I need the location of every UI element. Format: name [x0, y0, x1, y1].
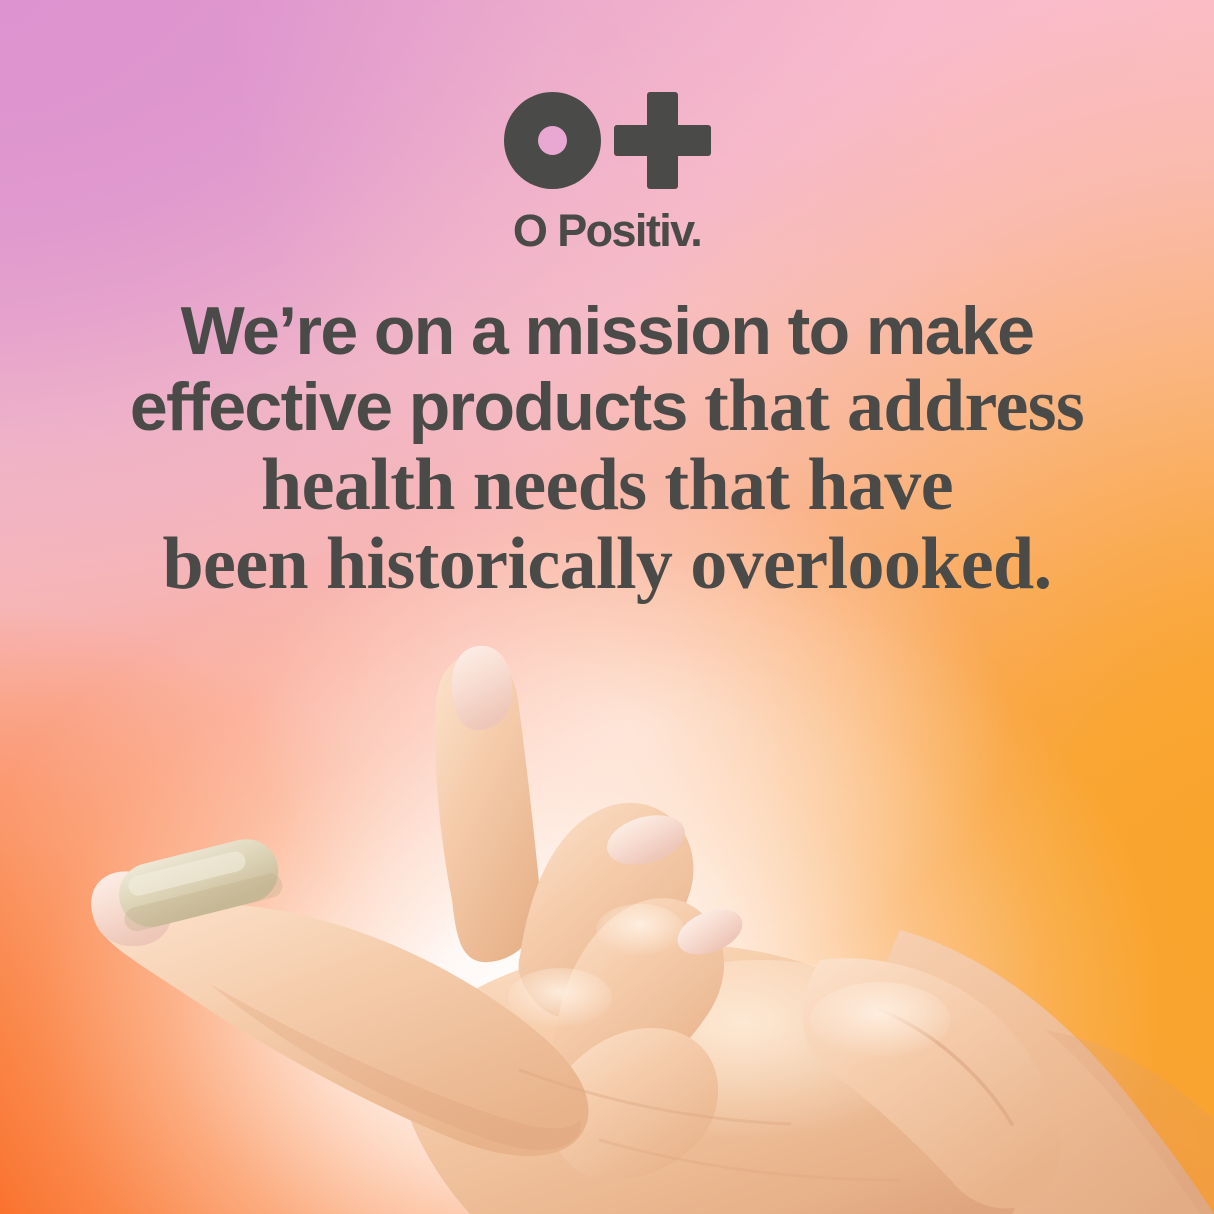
plus-cross-icon: [614, 92, 711, 189]
knuckle-highlight-a: [508, 968, 612, 1028]
headline-line-1: We’re on a mission to make: [60, 296, 1154, 366]
headline-line-2: effective products that address: [60, 368, 1154, 445]
headline: We’re on a mission to make effective pro…: [60, 296, 1154, 602]
logo-mark: [504, 88, 711, 192]
o-donut-icon: [504, 92, 601, 189]
brand-logo: O Positiv.: [0, 88, 1214, 253]
headline-segment: effective products: [130, 369, 704, 445]
hand-photo: [0, 600, 1214, 1214]
knuckle-highlight-c: [810, 982, 950, 1058]
brand-wordmark: O Positiv.: [513, 208, 701, 253]
headline-line-3: health needs that have: [60, 447, 1154, 524]
headline-line-4: been historically overlooked.: [60, 526, 1154, 603]
knuckle-highlight-b: [596, 904, 684, 956]
index-nail: [452, 646, 512, 730]
hand-illustration: [0, 600, 1214, 1214]
headline-segment: We’re on a mission to make: [181, 293, 1034, 369]
headline-segment: health needs that have: [261, 444, 953, 526]
headline-segment: that address: [704, 365, 1084, 447]
headline-segment: been historically overlooked.: [162, 523, 1051, 605]
promo-canvas: O Positiv. We’re on a mission to make ef…: [0, 0, 1214, 1214]
